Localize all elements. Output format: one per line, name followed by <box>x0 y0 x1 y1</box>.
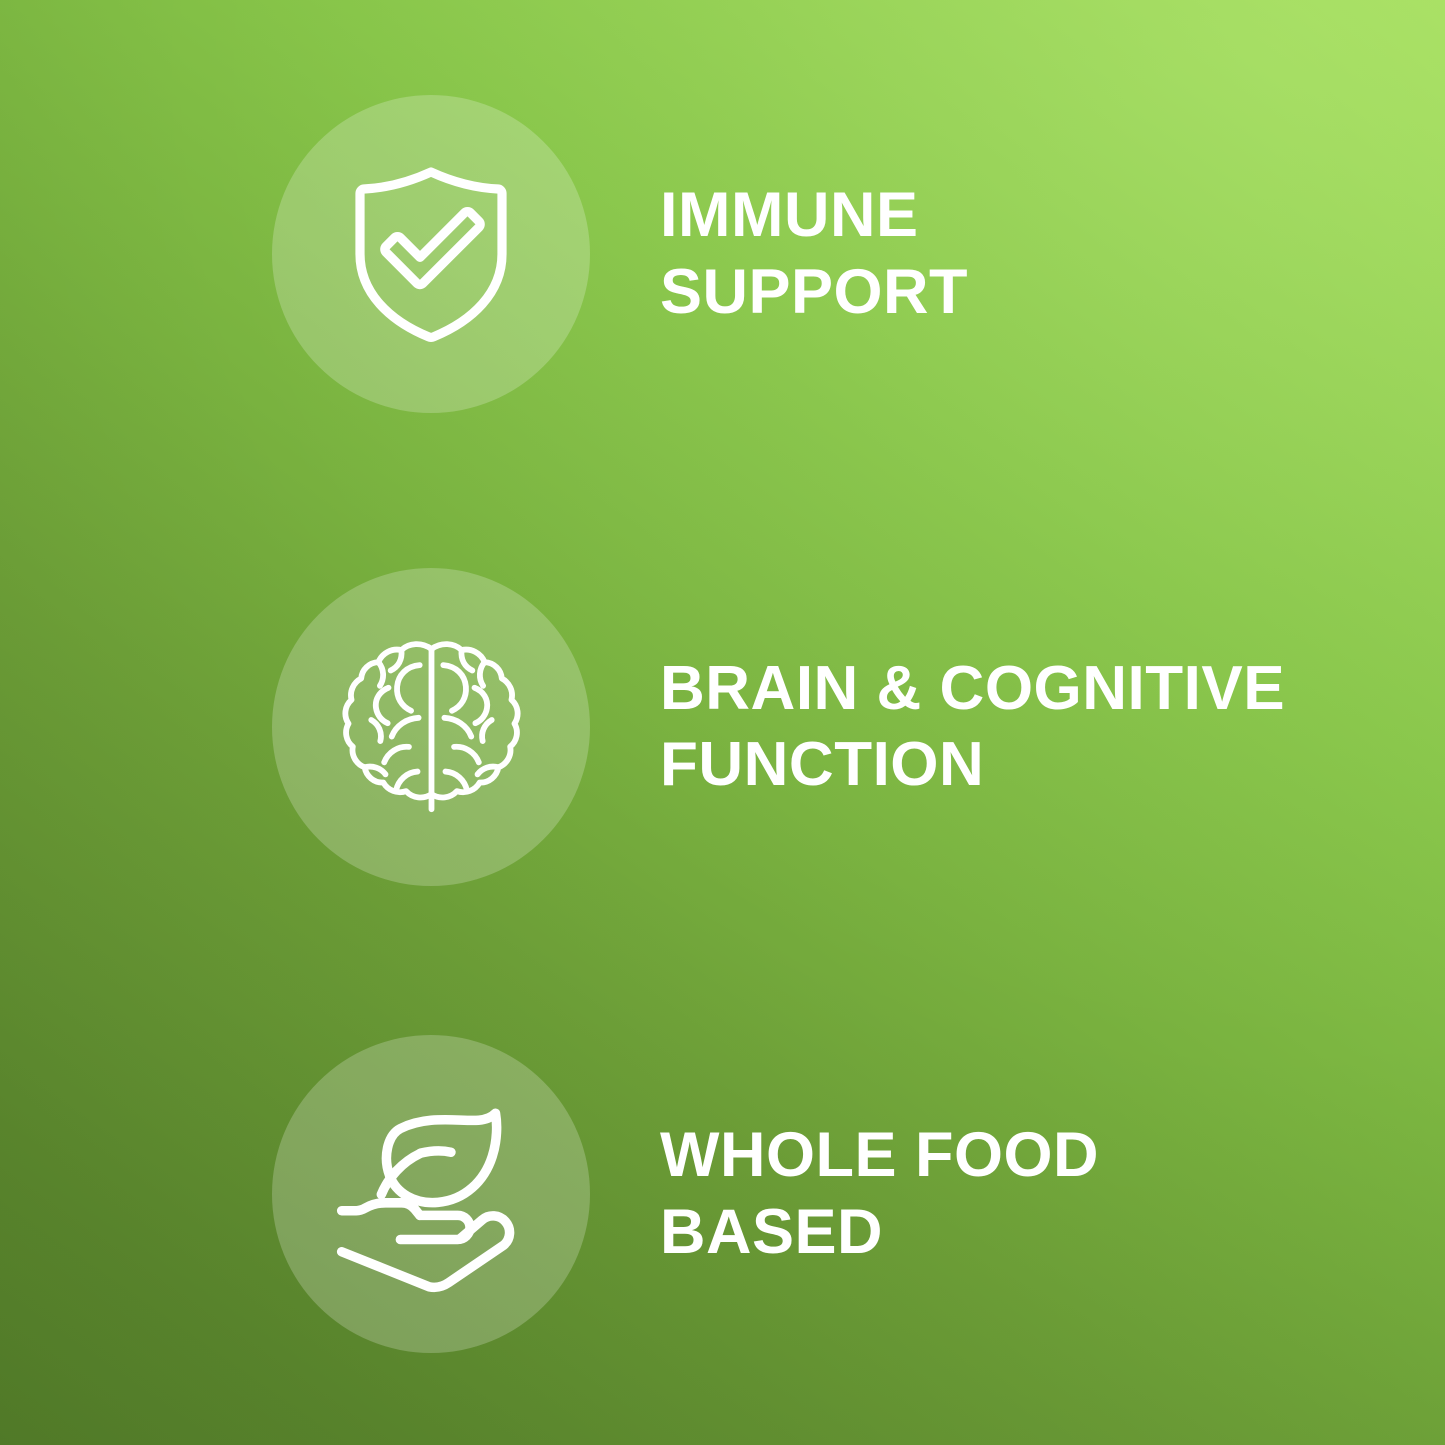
feature-item-whole-food-based: WHOLE FOOD BASED <box>272 1035 1099 1353</box>
icon-badge-whole-food <box>272 1035 590 1353</box>
feature-item-brain-cognitive-function: BRAIN & COGNITIVE FUNCTION <box>272 568 1285 886</box>
feature-item-immune-support: IMMUNE SUPPORT <box>272 95 968 413</box>
icon-badge-immune-support <box>272 95 590 413</box>
shield-check-icon <box>331 154 531 354</box>
feature-label-brain-cognitive-function: BRAIN & COGNITIVE FUNCTION <box>660 651 1285 802</box>
feature-label-immune-support: IMMUNE SUPPORT <box>660 177 968 331</box>
icon-badge-brain <box>272 568 590 886</box>
infographic-canvas: IMMUNE SUPPORT <box>0 0 1445 1445</box>
brain-icon <box>324 620 539 835</box>
feature-label-whole-food-based: WHOLE FOOD BASED <box>660 1117 1099 1271</box>
leaf-in-hand-icon <box>315 1078 547 1310</box>
